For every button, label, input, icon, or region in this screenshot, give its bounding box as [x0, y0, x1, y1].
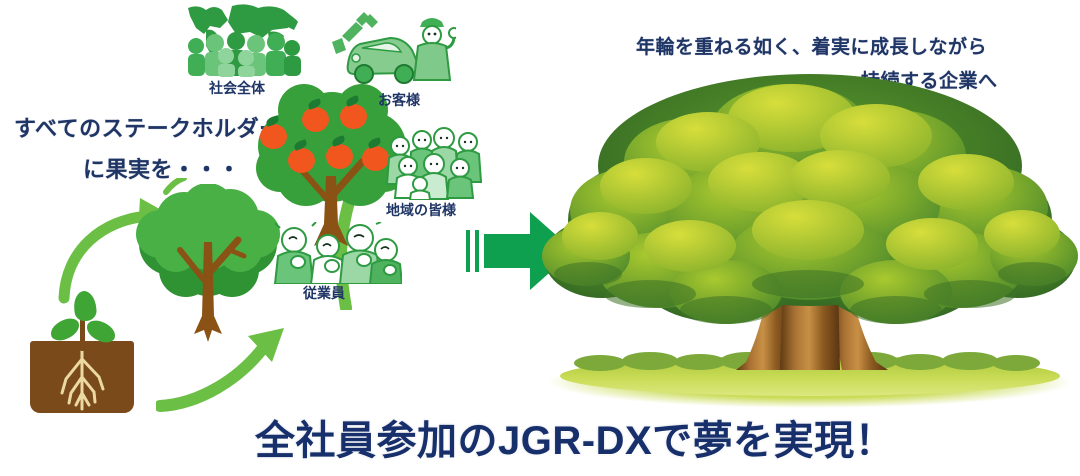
left-heading-line-1: すべてのステークホルダー: [14, 111, 282, 143]
right-heading-line-1: 年輪を重ねる如く、着実に成長しながら: [636, 32, 987, 59]
bottom-caption: 全社員参加のJGR-DXで夢を実現！: [255, 408, 895, 466]
fruit-5: [326, 144, 353, 169]
roots-icon: [54, 345, 110, 411]
fruit-3: [340, 104, 367, 129]
arrow-stripe-2: [475, 230, 479, 272]
fruit-4: [288, 148, 315, 173]
fruit-2: [302, 107, 329, 132]
mature-tree-illustration: [540, 70, 1080, 410]
arrow-stripe-1: [466, 230, 470, 272]
stakeholder-community-icon: [382, 126, 490, 200]
growth-arrow-2-icon: [156, 300, 346, 420]
stakeholder-employees-icon: [272, 222, 402, 284]
slide-canvas: すべてのステークホルダー に果実を・・・ 年輪を重ねる如く、着実に成長しながら …: [0, 0, 1080, 476]
stakeholder-society-icon: [184, 2, 302, 78]
seedling-illustration: [30, 295, 140, 413]
stakeholder-customers-label: お客様: [378, 90, 420, 110]
mature-tree-shape: [540, 70, 1080, 410]
seedling-leaf-left-icon: [48, 316, 82, 343]
stakeholder-community-label: 地域の皆様: [386, 200, 456, 220]
stakeholder-society-label: 社会全体: [209, 78, 265, 98]
fruit-1: [260, 124, 287, 149]
stakeholder-customers-icon: [330, 8, 456, 90]
stakeholder-employees-label: 従業員: [303, 283, 345, 303]
